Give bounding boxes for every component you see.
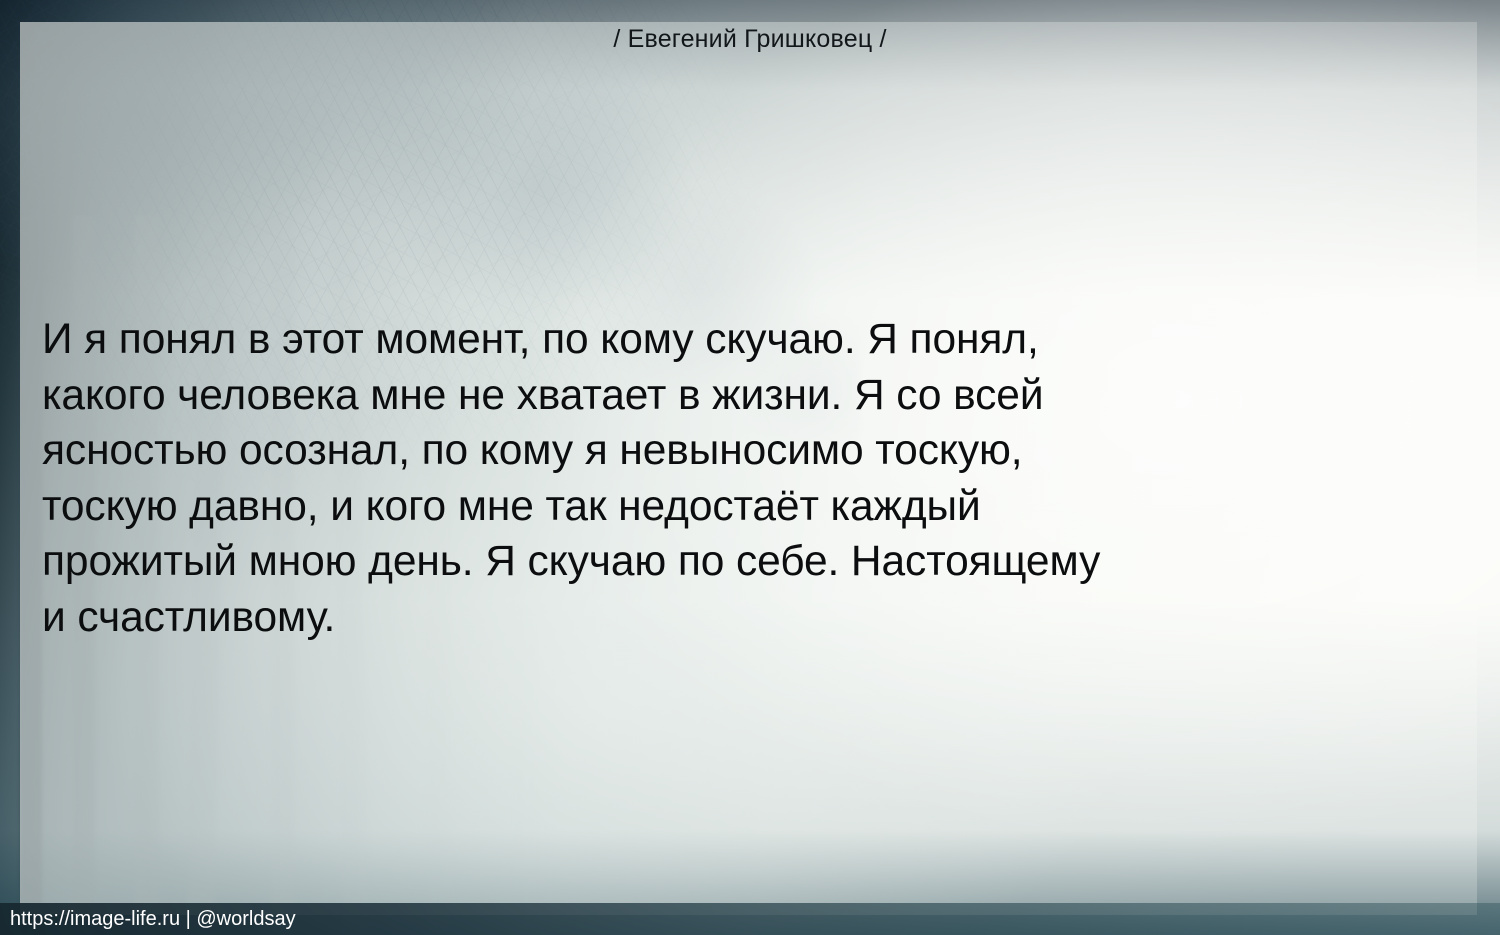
author-attribution: / Евегений Гришковец / xyxy=(0,26,1500,54)
watermark: https://image-life.ru | @worldsay xyxy=(10,908,296,930)
quote-text: И я понял в этот момент, по кому скучаю.… xyxy=(42,312,1462,645)
quote-line: тоскую давно, и кого мне так недостаёт к… xyxy=(42,479,1462,535)
quote-line: И я понял в этот момент, по кому скучаю.… xyxy=(42,312,1462,368)
quote-line: и счастливому. xyxy=(42,590,1462,646)
quote-card: / Евегений Гришковец / И я понял в этот … xyxy=(0,0,1500,935)
quote-line: ясностью осознал, по кому я невыносимо т… xyxy=(42,423,1462,479)
quote-line: какого человека мне не хватает в жизни. … xyxy=(42,368,1462,424)
quote-line: прожитый мною день. Я скучаю по себе. На… xyxy=(42,534,1462,590)
